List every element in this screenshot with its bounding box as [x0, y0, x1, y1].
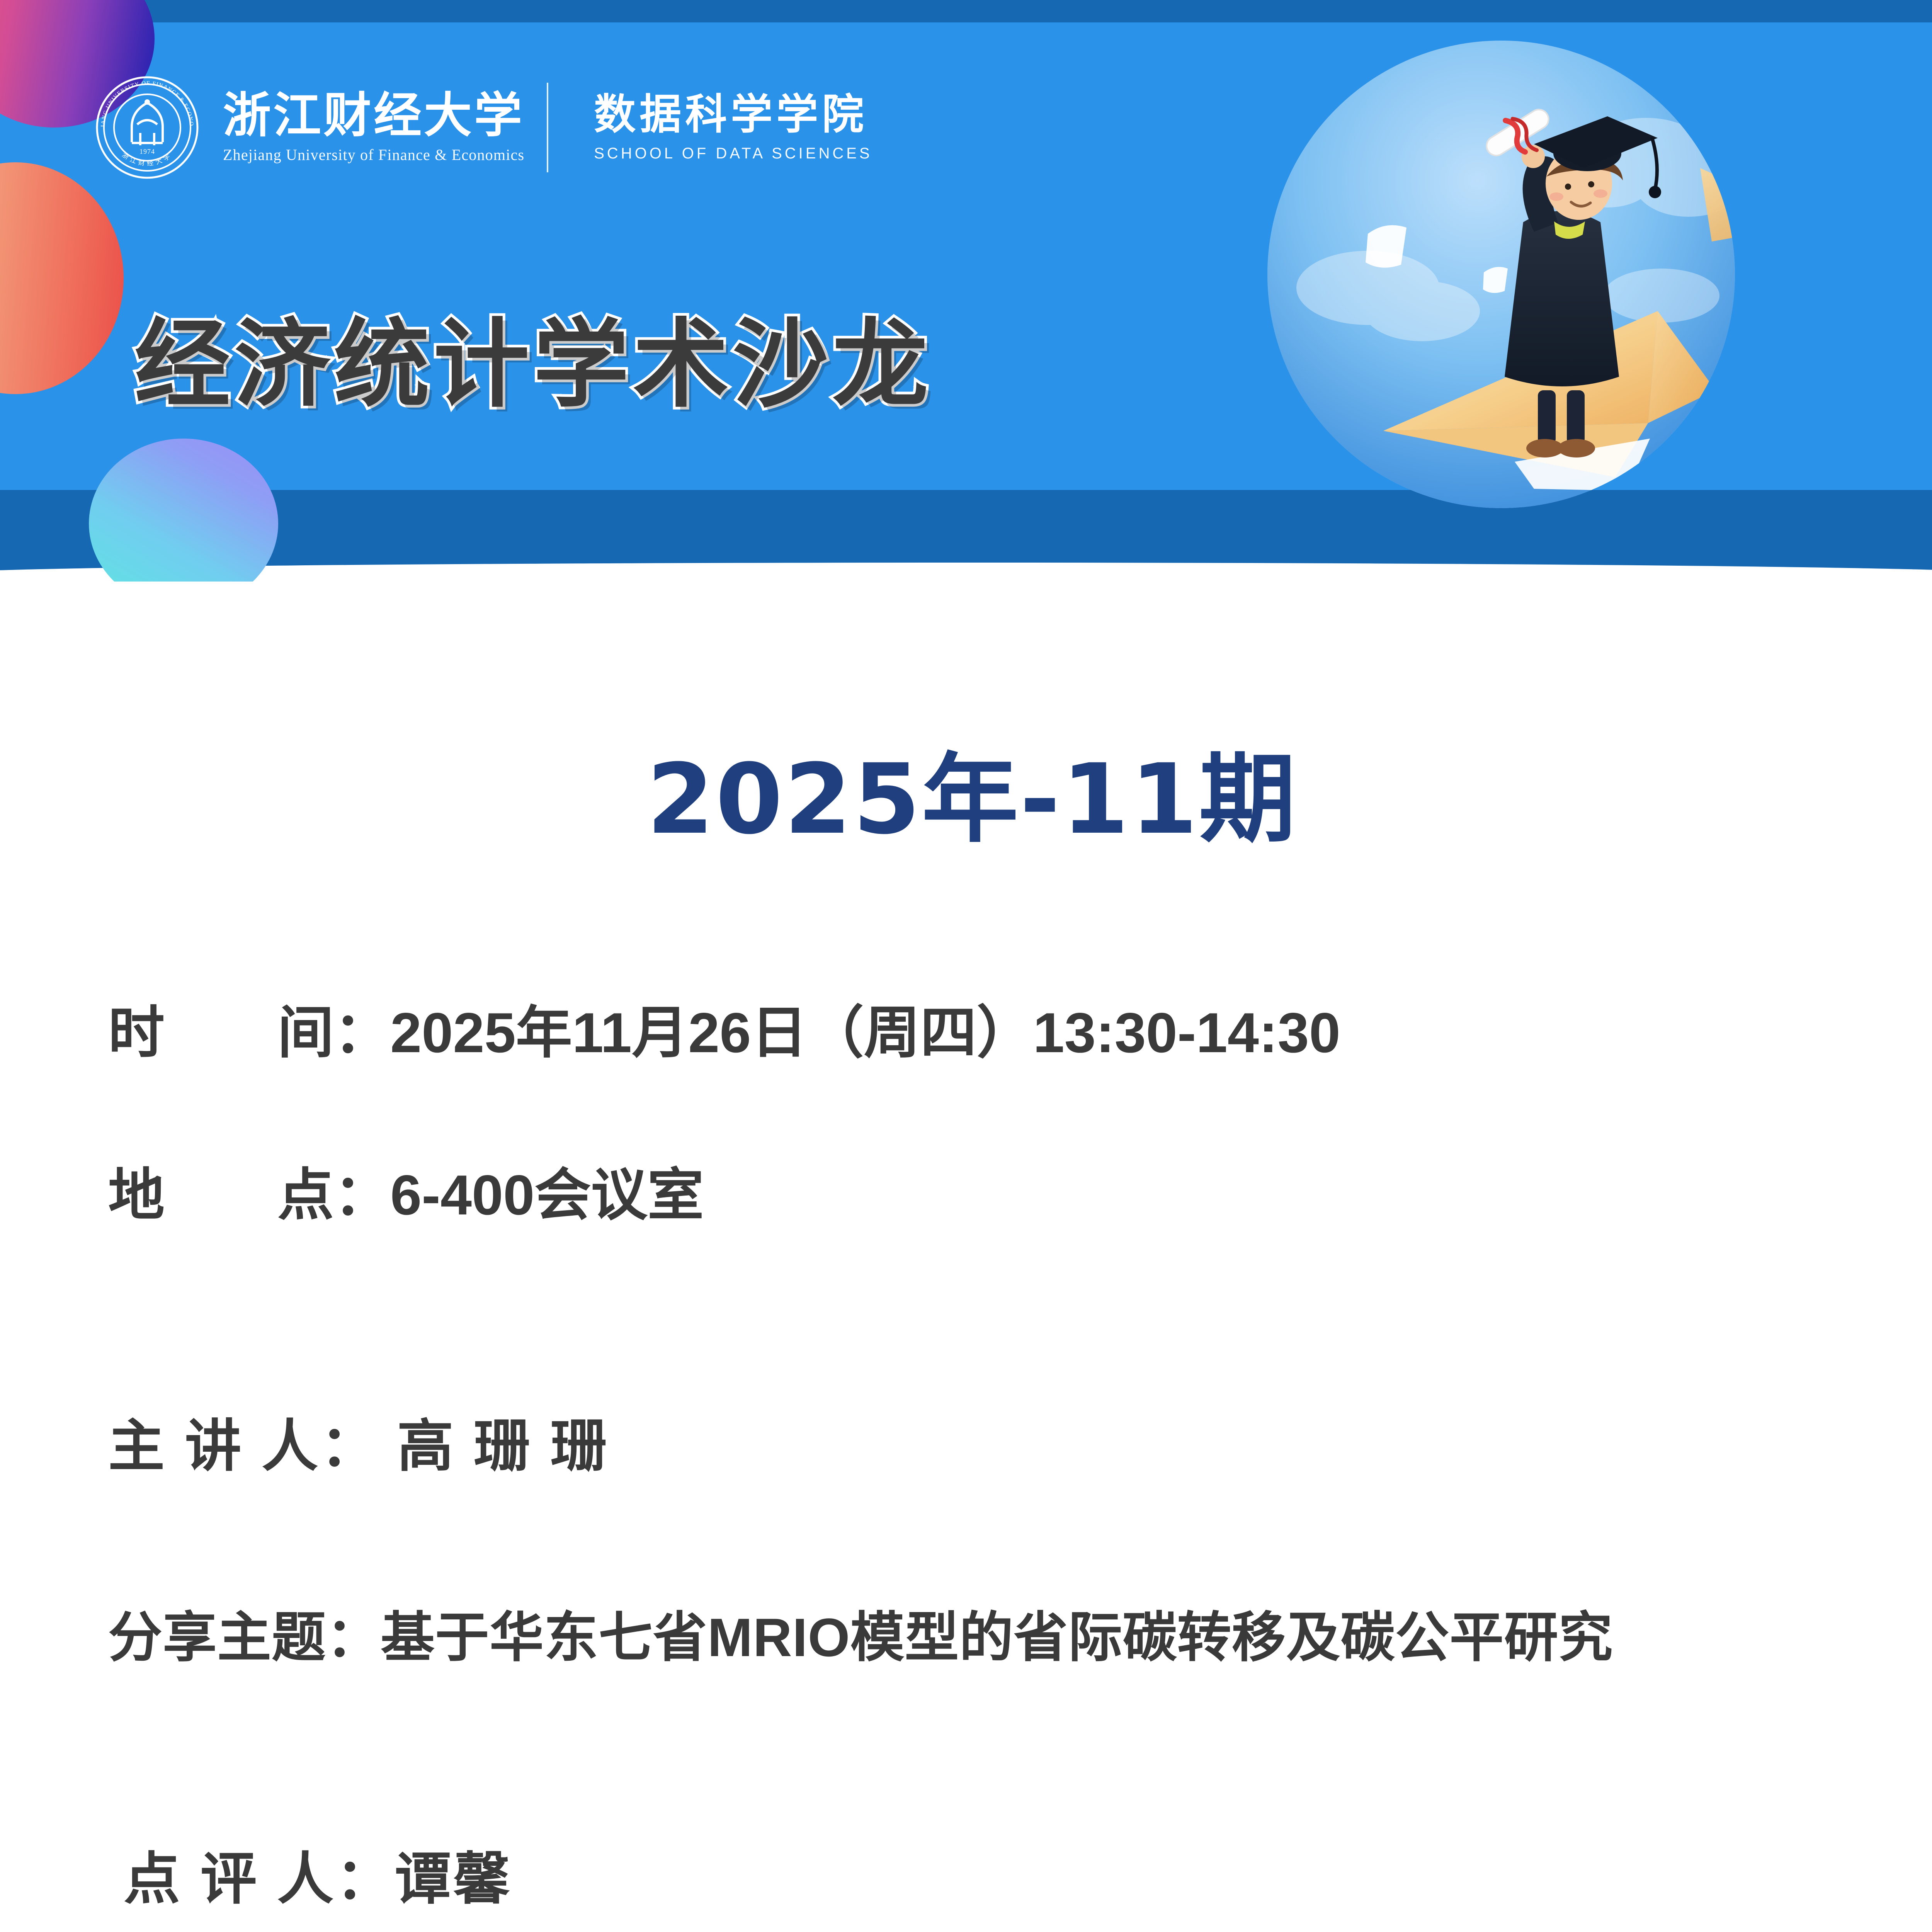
event-reviewer-line: 点 评 人：谭馨 — [124, 1833, 512, 1915]
graduate-illustration — [1267, 41, 1735, 508]
logo-divider — [547, 83, 548, 172]
university-name-block: 浙江财经大学 Zhejiang University of Finance & … — [223, 91, 524, 163]
university-name-en: Zhejiang University of Finance & Economi… — [223, 146, 524, 164]
header-curve-mask — [0, 563, 1932, 582]
school-name-block: 数据科学学院 SCHOOL OF DATA SCIENCES — [594, 93, 872, 162]
poster-body: 2025年-11期 时 间：2025年11月26日（周四）13:30-14:30… — [0, 582, 1932, 1932]
event-topic-line: 分享主题：基于华东七省MRIO模型的省际碳转移及碳公平研究 — [108, 1594, 1613, 1672]
event-place-line: 地 点：6-400会议室 — [108, 1150, 704, 1231]
poster-header: ZHEJIANG UNIVERSITY OF FINANCE & ECONOMI… — [0, 0, 1932, 582]
event-time-line: 时 间：2025年11月26日（周四）13:30-14:30 — [108, 987, 1340, 1069]
event-speaker-line: 主 讲 人： 高 珊 珊 — [108, 1401, 609, 1482]
university-name-cn: 浙江财经大学 — [223, 91, 524, 140]
svg-text:1974: 1974 — [139, 148, 155, 155]
logo-lockup: ZHEJIANG UNIVERSITY OF FINANCE & ECONOMI… — [95, 71, 872, 184]
poster-main-title: 经济统计学术沙龙 — [134, 287, 932, 425]
university-seal-icon: ZHEJIANG UNIVERSITY OF FINANCE & ECONOMI… — [95, 75, 200, 180]
school-name-cn: 数据科学学院 — [594, 93, 872, 136]
issue-number: 2025年-11期 — [0, 721, 1932, 861]
school-name-en: SCHOOL OF DATA SCIENCES — [594, 145, 872, 162]
poster-root: ZHEJIANG UNIVERSITY OF FINANCE & ECONOMI… — [0, 0, 1932, 1932]
